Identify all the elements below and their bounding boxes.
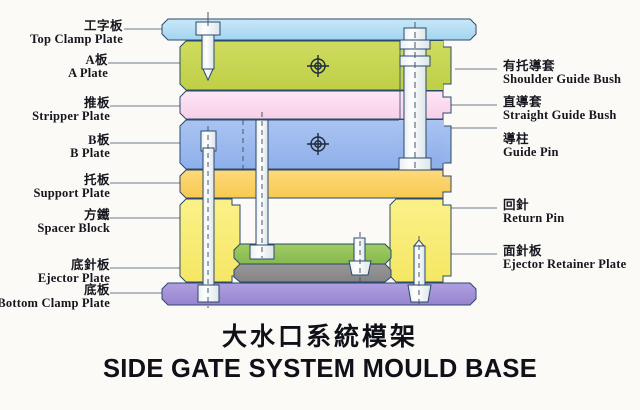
label-a-plate-en: A Plate: [68, 67, 108, 80]
label-a-plate-cn: A板: [68, 54, 108, 67]
label-ejector-retainer-plate-en: Ejector Retainer Plate: [503, 258, 626, 271]
label-spacer-block[interactable]: 方鐵 Spacer Block: [37, 209, 110, 236]
label-support-plate[interactable]: 托板 Support Plate: [33, 174, 110, 201]
label-a-plate[interactable]: A板 A Plate: [68, 54, 108, 81]
label-straight-guide-bush-en: Straight Guide Bush: [503, 109, 617, 122]
label-top-clamp-plate-cn: 工字板: [30, 20, 123, 33]
label-bottom-clamp-plate[interactable]: 底板 Bottom Clamp Plate: [0, 284, 110, 311]
plate-support-plate: [180, 170, 451, 198]
title-chinese: 大水口系統模架: [0, 317, 640, 353]
label-shoulder-guide-bush[interactable]: 有托導套 Shoulder Guide Bush: [503, 60, 621, 87]
label-straight-guide-bush[interactable]: 直導套 Straight Guide Bush: [503, 96, 617, 123]
label-bottom-clamp-plate-en: Bottom Clamp Plate: [0, 297, 110, 310]
label-guide-pin-cn: 導柱: [503, 133, 559, 146]
label-b-plate-cn: B板: [70, 134, 110, 147]
label-stripper-plate-cn: 推板: [32, 97, 110, 110]
label-straight-guide-bush-cn: 直導套: [503, 96, 617, 109]
label-bottom-clamp-plate-cn: 底板: [0, 284, 110, 297]
label-ejector-retainer-plate-cn: 面針板: [503, 245, 626, 258]
label-return-pin-cn: 回針: [503, 199, 564, 212]
label-top-clamp-plate[interactable]: 工字板 Top Clamp Plate: [30, 20, 123, 47]
label-spacer-block-en: Spacer Block: [37, 222, 110, 235]
diagram-title: 大水口系統模架 SIDE GATE SYSTEM MOULD BASE: [0, 317, 640, 384]
label-shoulder-guide-bush-cn: 有托導套: [503, 60, 621, 73]
label-ejector-plate-cn: 底針板: [38, 259, 110, 272]
label-shoulder-guide-bush-en: Shoulder Guide Bush: [503, 73, 621, 86]
label-b-plate-en: B Plate: [70, 147, 110, 160]
label-stripper-plate[interactable]: 推板 Stripper Plate: [32, 97, 110, 124]
label-guide-pin[interactable]: 導柱 Guide Pin: [503, 133, 559, 160]
label-support-plate-en: Support Plate: [33, 187, 110, 200]
label-return-pin[interactable]: 回針 Return Pin: [503, 199, 564, 226]
label-support-plate-cn: 托板: [33, 174, 110, 187]
label-ejector-plate[interactable]: 底針板 Ejector Plate: [38, 259, 110, 286]
label-b-plate[interactable]: B板 B Plate: [70, 134, 110, 161]
label-return-pin-en: Return Pin: [503, 212, 564, 225]
label-spacer-block-cn: 方鐵: [37, 209, 110, 222]
label-top-clamp-plate-en: Top Clamp Plate: [30, 33, 123, 46]
component-socket-cap-screw-shank: [202, 35, 214, 69]
label-stripper-plate-en: Stripper Plate: [32, 110, 110, 123]
label-ejector-retainer-plate[interactable]: 面針板 Ejector Retainer Plate: [503, 245, 626, 272]
title-english: SIDE GATE SYSTEM MOULD BASE: [0, 355, 640, 384]
label-guide-pin-en: Guide Pin: [503, 146, 559, 159]
